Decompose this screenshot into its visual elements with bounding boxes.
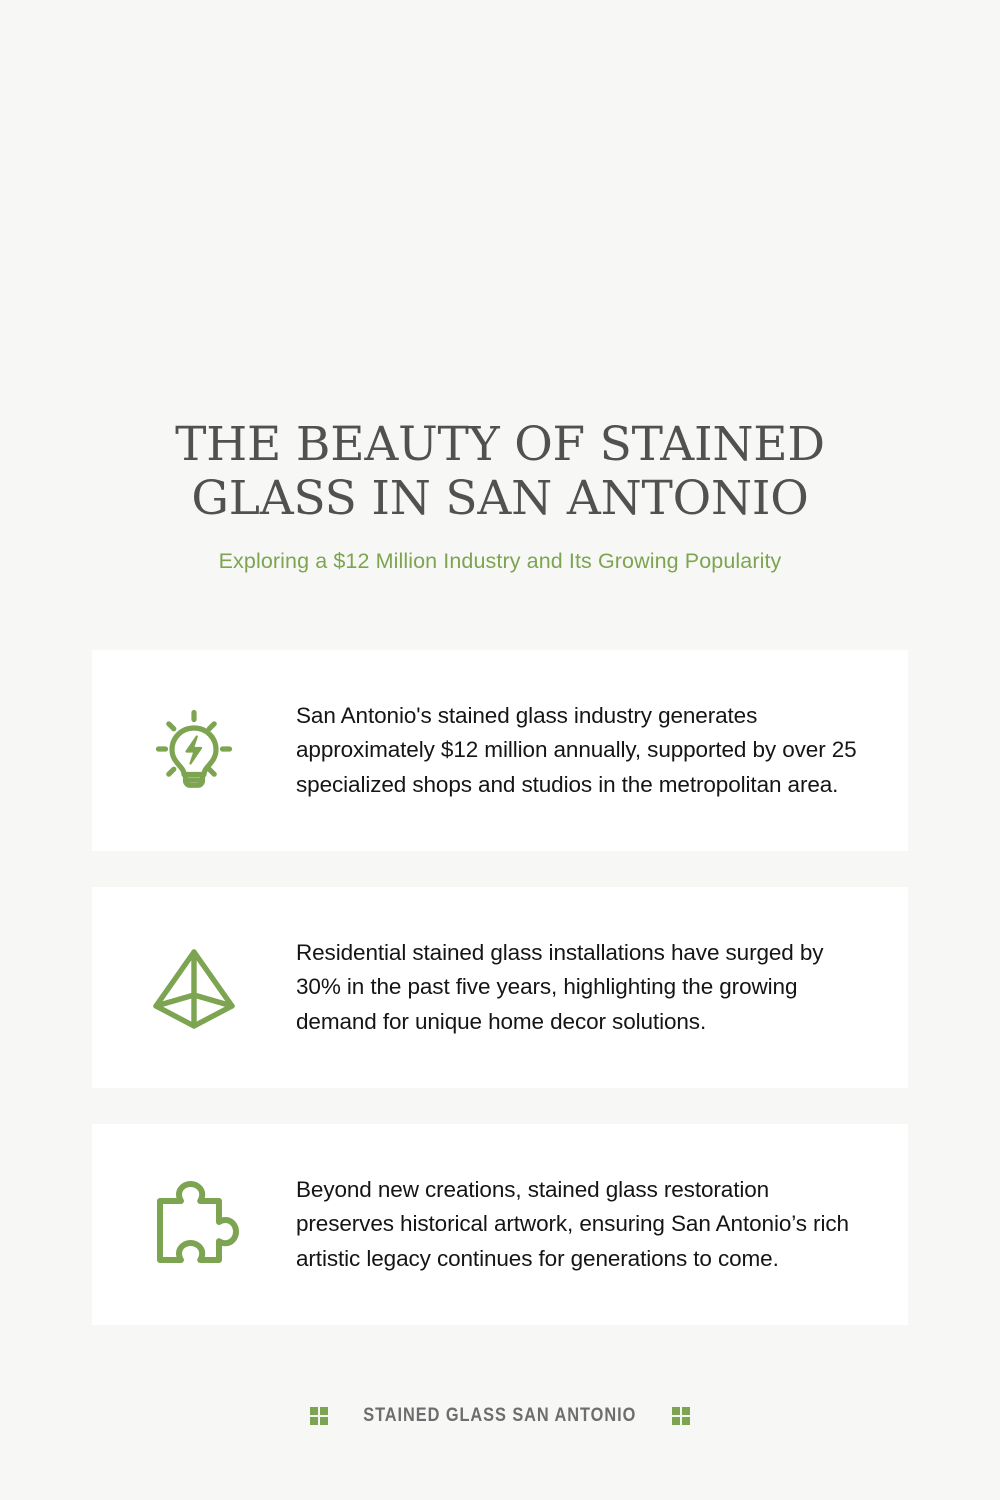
grid-squares-icon-left	[310, 1407, 329, 1426]
grid-squares-icon-right	[672, 1407, 691, 1426]
lightbulb-bolt-icon	[92, 703, 296, 799]
puzzle-piece-icon	[92, 1177, 296, 1273]
fact-card: Beyond new creations, stained glass rest…	[92, 1124, 908, 1325]
header: THE BEAUTY OF STAINED GLASS IN SAN ANTON…	[0, 418, 1000, 574]
grid-square	[672, 1417, 680, 1425]
fact-card-list: San Antonio's stained glass industry gen…	[92, 650, 908, 1325]
grid-square	[310, 1417, 318, 1425]
fact-card-text: Beyond new creations, stained glass rest…	[296, 1173, 868, 1277]
grid-square	[682, 1407, 690, 1415]
fact-card-text: Residential stained glass installations …	[296, 936, 868, 1040]
fact-card-text: San Antonio's stained glass industry gen…	[296, 699, 868, 803]
footer-brand: STAINED GLASS SAN ANTONIO	[0, 1405, 1000, 1427]
fact-card: Residential stained glass installations …	[92, 887, 908, 1088]
grid-square	[320, 1417, 328, 1425]
infographic-page: THE BEAUTY OF STAINED GLASS IN SAN ANTON…	[0, 0, 1000, 1500]
grid-square	[682, 1417, 690, 1425]
grid-square	[672, 1407, 680, 1415]
fact-card: San Antonio's stained glass industry gen…	[92, 650, 908, 851]
page-title: THE BEAUTY OF STAINED GLASS IN SAN ANTON…	[150, 418, 850, 526]
brand-name: STAINED GLASS SAN ANTONIO	[363, 1405, 636, 1427]
page-subtitle: Exploring a $12 Million Industry and Its…	[120, 548, 880, 574]
grid-square	[310, 1407, 318, 1415]
pyramid-wireframe-icon	[92, 940, 296, 1036]
grid-square	[320, 1407, 328, 1415]
